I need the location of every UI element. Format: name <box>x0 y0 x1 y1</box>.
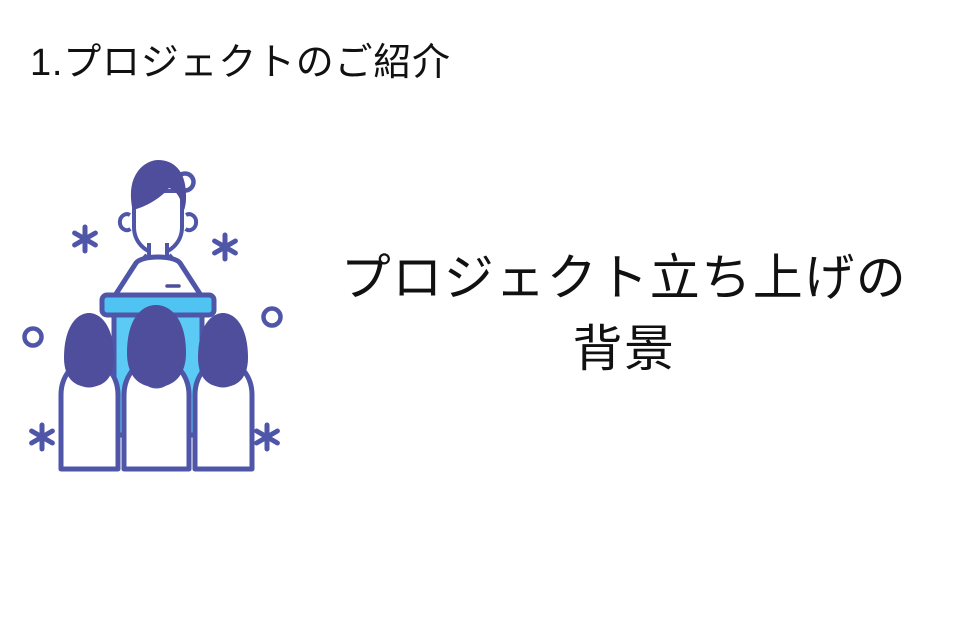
podium-top <box>114 257 202 297</box>
decor-asterisk-icon <box>75 227 96 251</box>
audience-member <box>61 313 118 469</box>
presenter-podium-illustration <box>14 155 306 485</box>
presenter-ear-left <box>120 214 131 230</box>
decor-ring-icon <box>25 329 42 346</box>
audience-member <box>195 313 252 469</box>
decor-asterisk-icon <box>32 425 53 449</box>
audience-member <box>124 305 189 469</box>
headline-line-2: 背景 <box>306 314 942 385</box>
presenter-figure <box>120 160 196 268</box>
audience-group <box>61 305 252 469</box>
slide-canvas: 1.プロジェクトのご紹介 <box>0 0 956 637</box>
decor-asterisk-icon <box>215 235 236 259</box>
decor-asterisk-icon <box>257 425 278 449</box>
audience-head <box>64 313 114 387</box>
illustration-svg <box>14 155 306 485</box>
audience-head <box>198 313 248 387</box>
headline-line-1: プロジェクト立ち上げの <box>306 243 942 314</box>
slide-section-title: 1.プロジェクトのご紹介 <box>30 40 451 88</box>
decor-ring-icon <box>264 309 281 326</box>
presenter-ear-right <box>186 214 197 230</box>
slide-headline: プロジェクト立ち上げの 背景 <box>306 243 942 385</box>
audience-head <box>127 305 186 387</box>
